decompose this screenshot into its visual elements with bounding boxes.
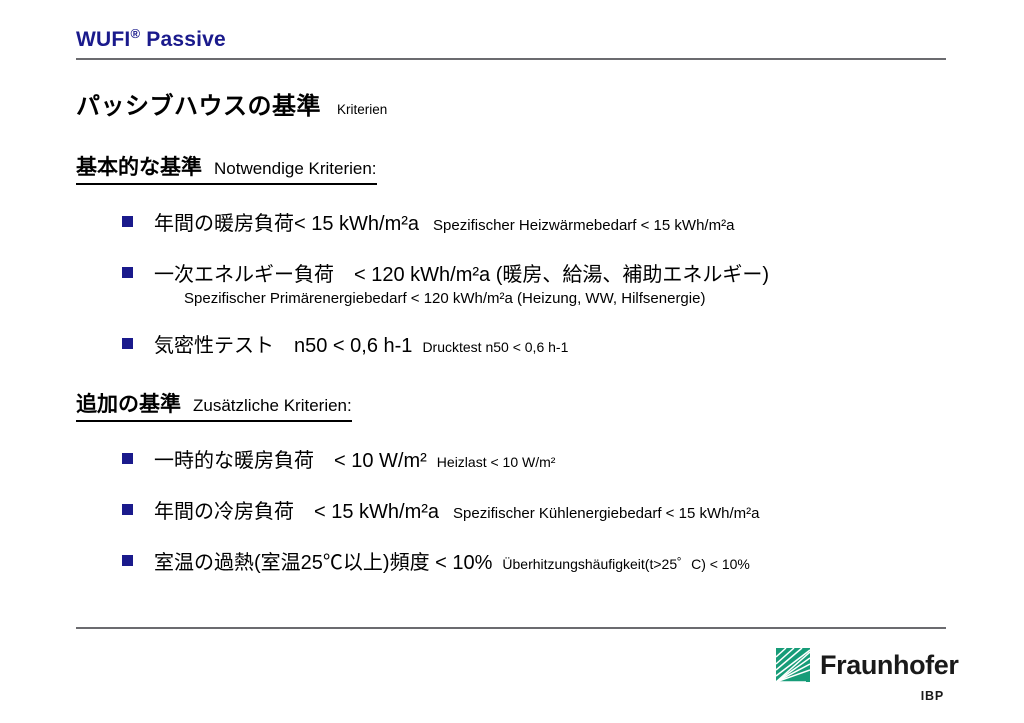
logo-row: Fraunhofer: [776, 648, 946, 682]
list-item-jp: 一時的な暖房負荷 < 10 W/m²: [154, 444, 427, 473]
section-additional-criteria: 追加の基準 Zusätzliche Kriterien: 一時的な暖房負荷 < …: [76, 388, 996, 575]
bullet-square-icon: [122, 453, 133, 464]
list-item: 一次エネルギー負荷 < 120 kWh/m²a (暖房、給湯、補助エネルギー) …: [76, 258, 996, 307]
list-item-de: Heizlast < 10 W/m²: [437, 454, 556, 470]
fraunhofer-wordmark: Fraunhofer: [820, 652, 959, 679]
section-heading-additional-de: Zusätzliche Kriterien:: [193, 396, 352, 416]
list-item-jp: 室温の過熱(室温25℃以上)頻度 < 10%: [154, 546, 492, 575]
list-item-jp: 年間の冷房負荷 < 15 kWh/m²a: [154, 495, 439, 524]
section-heading-basic: 基本的な基準 Notwendige Kriterien:: [76, 151, 377, 185]
bullet-square-icon: [122, 216, 133, 227]
slide-header: WUFI® Passive: [76, 28, 946, 60]
list-item-de: Drucktest n50 < 0,6 h-1: [422, 339, 568, 355]
page-title-edition: Passive: [140, 28, 226, 51]
list-item: 年間の暖房負荷< 15 kWh/m²a Spezifischer Heizwär…: [76, 207, 996, 236]
list-item-jp: 気密性テスト n50 < 0,6 h-1: [154, 329, 412, 358]
list-item-line: 年間の冷房負荷 < 15 kWh/m²a Spezifischer Kühlen…: [154, 495, 996, 524]
section-heading-additional: 追加の基準 Zusätzliche Kriterien:: [76, 388, 352, 422]
list-item-jp: 年間の暖房負荷< 15 kWh/m²a: [154, 207, 419, 236]
section-heading-basic-jp: 基本的な基準: [76, 151, 202, 181]
list-item-line: 年間の暖房負荷< 15 kWh/m²a Spezifischer Heizwär…: [154, 207, 996, 236]
list-item: 室温の過熱(室温25℃以上)頻度 < 10% Überhitzungshäufi…: [76, 546, 996, 575]
list-item-jp: 一次エネルギー負荷 < 120 kWh/m²a (暖房、給湯、補助エネルギー): [154, 258, 769, 287]
fraunhofer-mark-icon: [776, 648, 810, 682]
page-title: WUFI® Passive: [76, 28, 946, 51]
criteria-list-additional: 一時的な暖房負荷 < 10 W/m² Heizlast < 10 W/m² 年間…: [76, 444, 996, 575]
list-item: 気密性テスト n50 < 0,6 h-1 Drucktest n50 < 0,6…: [76, 329, 996, 358]
list-item-de: Spezifischer Heizwärmebedarf < 15 kWh/m²…: [433, 217, 734, 234]
section-basic-criteria: 基本的な基準 Notwendige Kriterien: 年間の暖房負荷< 15…: [76, 151, 996, 358]
bullet-square-icon: [122, 504, 133, 515]
fraunhofer-logo: Fraunhofer IBP: [776, 648, 946, 706]
bullet-square-icon: [122, 555, 133, 566]
registered-trademark-icon: ®: [130, 26, 140, 41]
list-item-line: 室温の過熱(室温25℃以上)頻度 < 10% Überhitzungshäufi…: [154, 546, 996, 575]
page-title-product: WUFI: [76, 28, 130, 51]
list-item-de: Überhitzungshäufigkeit(t>25゜C) < 10%: [502, 554, 749, 574]
list-item-line: 気密性テスト n50 < 0,6 h-1 Drucktest n50 < 0,6…: [154, 329, 996, 358]
list-item-de: Spezifischer Kühlenergiebedarf < 15 kWh/…: [453, 505, 759, 522]
list-item-subline: Spezifischer Primärenergiebedarf < 120 k…: [184, 290, 996, 307]
slide-subtitle: パッシブハウスの基準 Kriterien: [76, 86, 996, 121]
list-item-line: 一次エネルギー負荷 < 120 kWh/m²a (暖房、給湯、補助エネルギー): [154, 258, 996, 287]
list-item: 一時的な暖房負荷 < 10 W/m² Heizlast < 10 W/m²: [76, 444, 996, 473]
section-heading-basic-de: Notwendige Kriterien:: [214, 159, 377, 179]
header-divider: [76, 58, 946, 60]
footer-divider: [76, 627, 946, 629]
bullet-square-icon: [122, 267, 133, 278]
fraunhofer-institute-label: IBP: [776, 689, 944, 703]
slide-subtitle-de: Kriterien: [337, 102, 387, 117]
bullet-square-icon: [122, 338, 133, 349]
list-item-line: 一時的な暖房負荷 < 10 W/m² Heizlast < 10 W/m²: [154, 444, 996, 473]
slide-body: パッシブハウスの基準 Kriterien 基本的な基準 Notwendige K…: [76, 82, 996, 575]
list-item: 年間の冷房負荷 < 15 kWh/m²a Spezifischer Kühlen…: [76, 495, 996, 524]
section-heading-additional-jp: 追加の基準: [76, 388, 181, 418]
slide-subtitle-jp: パッシブハウスの基準: [76, 86, 321, 121]
criteria-list-basic: 年間の暖房負荷< 15 kWh/m²a Spezifischer Heizwär…: [76, 207, 996, 358]
